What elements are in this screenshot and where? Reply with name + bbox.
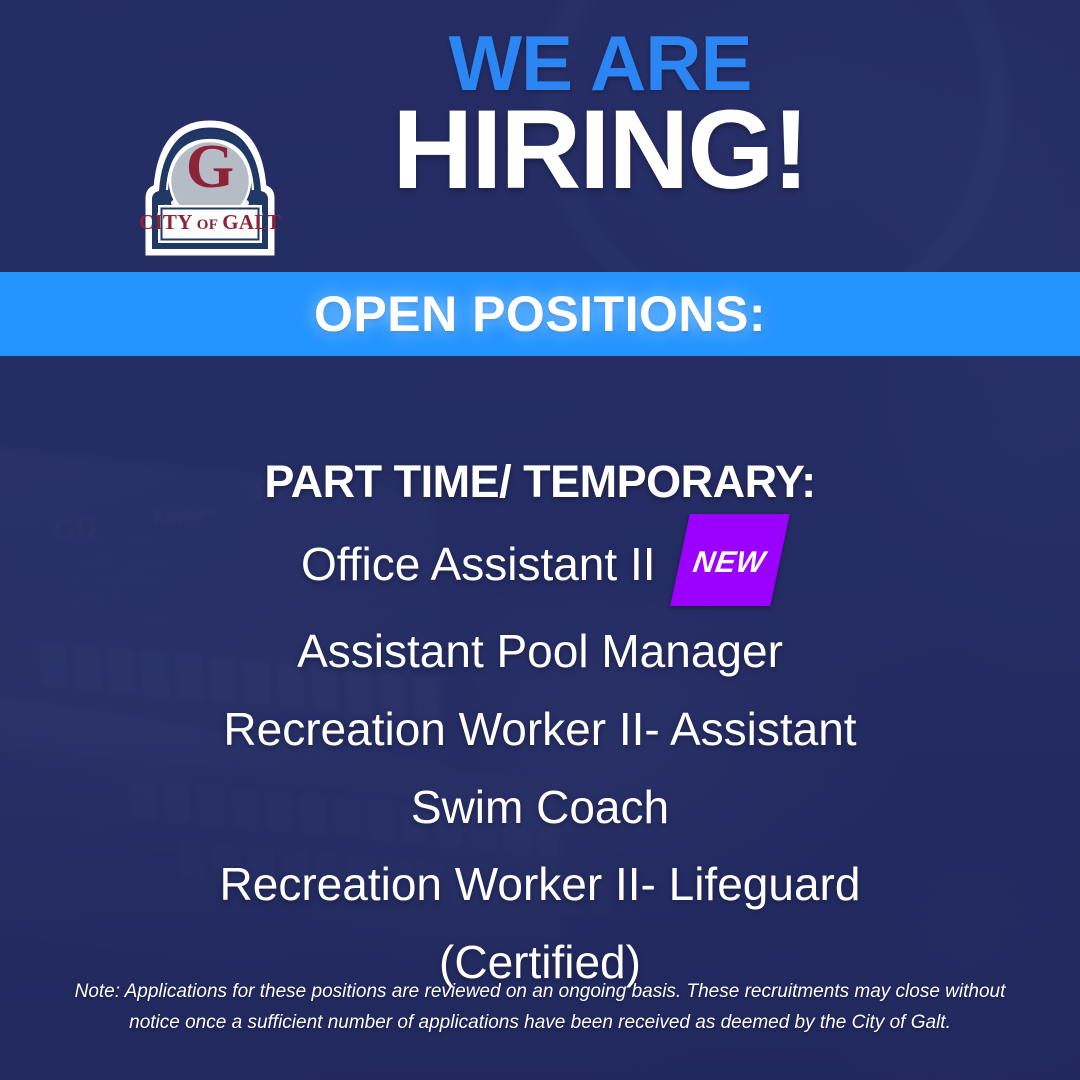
positions-section: PART TIME/ TEMPORARY: Office Assistant I…: [0, 356, 1080, 1080]
job-title: Office Assistant II: [301, 527, 656, 601]
list-item: Office Assistant IINEW: [0, 518, 1080, 610]
headline-hiring: HIRING!: [300, 97, 900, 202]
job-title: Assistant Pool Manager: [297, 614, 783, 688]
list-item: Assistant Pool Manager: [0, 610, 1080, 688]
footer-note-line-1: Note: Applications for these positions a…: [60, 976, 1020, 1007]
new-badge: NEW: [670, 514, 789, 606]
list-item: Swim Coach: [0, 766, 1080, 844]
category-title: PART TIME/ TEMPORARY:: [0, 456, 1080, 508]
job-title: Swim Coach: [411, 770, 669, 844]
open-positions-band: OPEN POSITIONS:: [0, 272, 1080, 356]
job-list: Office Assistant IINEW Assistant Pool Ma…: [0, 518, 1080, 999]
new-badge-label: NEW: [687, 526, 770, 600]
footer-note-line-2: notice once a sufficient number of appli…: [60, 1007, 1020, 1038]
city-of-galt-logo: G CITY OF GALT: [104, 104, 316, 256]
headline-block: WE ARE HIRING!: [300, 26, 900, 202]
logo-monogram: G: [104, 136, 316, 198]
job-title: Recreation Worker II- Assistant: [223, 692, 856, 766]
list-item: Recreation Worker II- Assistant: [0, 688, 1080, 766]
hiring-poster: GQEsquireTC: [0, 0, 1080, 1080]
poster-header: G CITY OF GALT WE ARE HIRING!: [0, 0, 1080, 272]
logo-city-word: CITY: [139, 210, 193, 234]
logo-galt-word: GALT: [222, 210, 281, 234]
logo-of-word: OF: [197, 217, 218, 233]
job-title: Recreation Worker II- Lifeguard: [220, 847, 861, 921]
list-item: Recreation Worker II- Lifeguard: [0, 844, 1080, 922]
open-positions-title: OPEN POSITIONS:: [314, 285, 766, 343]
footer-note: Note: Applications for these positions a…: [60, 976, 1020, 1038]
